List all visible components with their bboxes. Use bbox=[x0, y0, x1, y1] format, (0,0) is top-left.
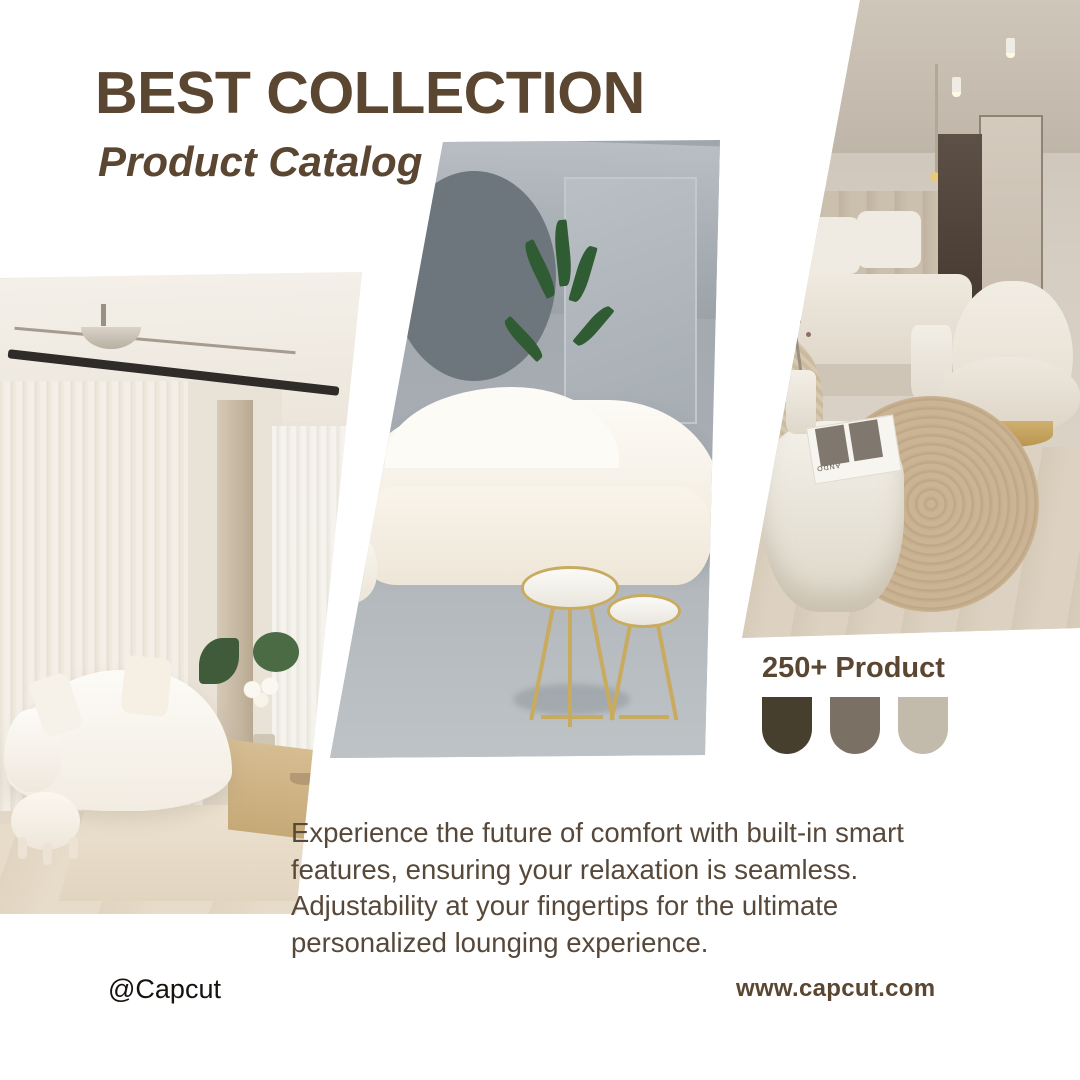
ottoman-leg-1 bbox=[18, 837, 27, 859]
gallery-image-grey-studio bbox=[330, 140, 720, 758]
ottoman-leg-3 bbox=[69, 837, 78, 859]
color-swatch-group bbox=[762, 697, 948, 754]
throw-pillow-2 bbox=[120, 655, 173, 717]
description-paragraph: Experience the future of comfort with bu… bbox=[291, 815, 951, 961]
grey-studio-scene bbox=[330, 140, 720, 758]
product-count-label: 250+ Product bbox=[762, 652, 945, 685]
page-subtitle: Product Catalog bbox=[98, 138, 422, 186]
pendant-rod bbox=[101, 304, 106, 326]
bed-pillow-2 bbox=[857, 211, 921, 268]
concrete-column bbox=[217, 400, 253, 772]
table-leg-a3 bbox=[568, 597, 572, 727]
table-base-b bbox=[619, 715, 670, 719]
table-base-a bbox=[541, 715, 603, 719]
social-handle[interactable]: @Capcut bbox=[108, 974, 221, 1005]
spotlight-1 bbox=[952, 77, 961, 93]
bedroom-scene: ANDO bbox=[742, 0, 1080, 638]
website-url[interactable]: www.capcut.com bbox=[736, 975, 935, 1003]
bed-pillow-1 bbox=[799, 217, 860, 274]
branch-bud-2 bbox=[806, 332, 811, 337]
wooden-bowl bbox=[290, 773, 320, 785]
color-swatch-dark-olive-brown[interactable] bbox=[762, 697, 812, 754]
page-title: BEST COLLECTION bbox=[95, 63, 645, 125]
gallery-image-bedroom: ANDO bbox=[742, 0, 1080, 638]
wall-panel-frame bbox=[564, 177, 697, 424]
poster-canvas: BEST COLLECTION Product Catalog bbox=[0, 0, 1080, 1080]
ceramic-vase bbox=[786, 370, 816, 434]
color-swatch-medium-taupe[interactable] bbox=[830, 697, 880, 754]
color-swatch-light-beige[interactable] bbox=[898, 697, 948, 754]
shrub-plant bbox=[253, 632, 299, 672]
nesting-table-small bbox=[607, 594, 681, 628]
nesting-table-large bbox=[521, 566, 619, 609]
ottoman-leg-2 bbox=[43, 843, 52, 865]
round-pouf bbox=[330, 529, 377, 603]
lily-bouquet bbox=[239, 676, 283, 710]
sofa-seat bbox=[353, 486, 712, 585]
spotlight-2 bbox=[1006, 38, 1015, 54]
dark-cup bbox=[315, 798, 331, 814]
